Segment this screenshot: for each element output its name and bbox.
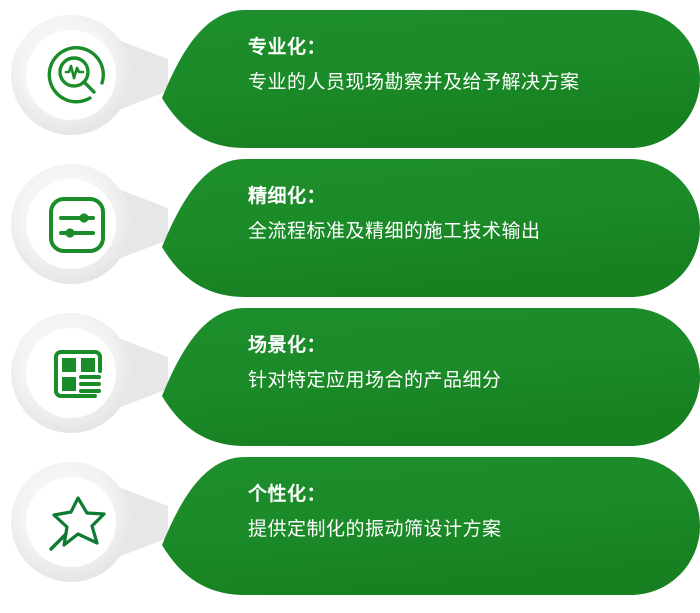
service-features-infographic: 专业化： 专业的人员现场勘察并及给予解决方案 bbox=[0, 0, 700, 613]
feature-row: 场景化： 针对特定应用场合的产品细分 bbox=[0, 298, 700, 448]
feature-banner: 精细化： 全流程标准及精细的施工技术输出 bbox=[100, 159, 700, 297]
feature-banner: 个性化： 提供定制化的振动筛设计方案 bbox=[100, 457, 700, 595]
feature-row: 个性化： 提供定制化的振动筛设计方案 bbox=[0, 447, 700, 597]
feature-banner: 专业化： 专业的人员现场勘察并及给予解决方案 bbox=[100, 10, 700, 148]
feature-row: 精细化： 全流程标准及精细的施工技术输出 bbox=[0, 149, 700, 299]
feature-banner: 场景化： 针对特定应用场合的产品细分 bbox=[100, 308, 700, 446]
feature-row: 专业化： 专业的人员现场勘察并及给予解决方案 bbox=[0, 0, 700, 150]
